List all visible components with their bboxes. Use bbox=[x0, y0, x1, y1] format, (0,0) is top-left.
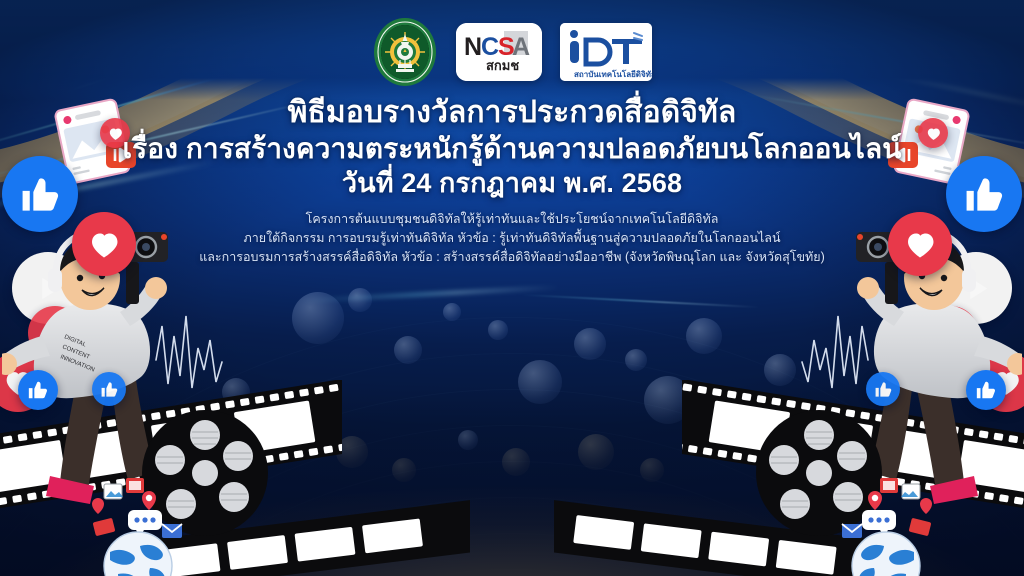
title-line-3: วันที่ 24 กรกฎาคม พ.ศ. 2568 bbox=[0, 168, 1024, 199]
university-seal-logo bbox=[372, 16, 438, 88]
logo-row: N C S A สกมช สถาบันเทคโนโลย bbox=[0, 16, 1024, 88]
svg-text:N: N bbox=[464, 33, 482, 61]
thumbs-up-icon bbox=[866, 372, 900, 406]
waveform-left bbox=[150, 300, 240, 420]
thumbs-up-icon bbox=[18, 370, 58, 410]
subtitle-list: โครงการต้นแบบชุมชนดิจิทัลให้รู้เท่าทันแล… bbox=[0, 210, 1024, 267]
title-line-2: เรื่อง การสร้างความตระหนักรู้ด้านความปลอ… bbox=[0, 133, 1024, 165]
thumbs-up-icon bbox=[92, 372, 126, 406]
idt-logo: สถาบันเทคโนโลยีดิจิทัล bbox=[560, 23, 652, 81]
svg-text:C: C bbox=[481, 33, 499, 61]
svg-text:A: A bbox=[512, 33, 530, 61]
globe-media-cluster-right bbox=[822, 468, 950, 576]
ncsa-logo: N C S A สกมช bbox=[456, 23, 542, 81]
headings-block: พิธีมอบรางวัลการประกวดสื่อดิจิทัล เรื่อง… bbox=[0, 96, 1024, 267]
svg-text:สกมช: สกมช bbox=[486, 58, 519, 73]
subtitle-line-3: และการอบรมการสร้างสรรค์สื่อดิจิทัล หัวข้… bbox=[0, 248, 1024, 267]
thumbs-up-icon bbox=[966, 370, 1006, 410]
svg-text:สถาบันเทคโนโลยีดิจิทัล: สถาบันเทคโนโลยีดิจิทัล bbox=[574, 69, 652, 79]
subtitle-line-2: ภายใต้กิจกรรม การอบรมรู้เท่าทันดิจิทัล ห… bbox=[0, 229, 1024, 248]
globe-media-cluster-left bbox=[74, 468, 202, 576]
event-poster-banner: DIGITAL CONTENT INNOVATION bbox=[0, 0, 1024, 576]
waveform-right bbox=[784, 300, 874, 420]
title-line-1: พิธีมอบรางวัลการประกวดสื่อดิจิทัล bbox=[0, 96, 1024, 131]
subtitle-line-1: โครงการต้นแบบชุมชนดิจิทัลให้รู้เท่าทันแล… bbox=[0, 210, 1024, 229]
